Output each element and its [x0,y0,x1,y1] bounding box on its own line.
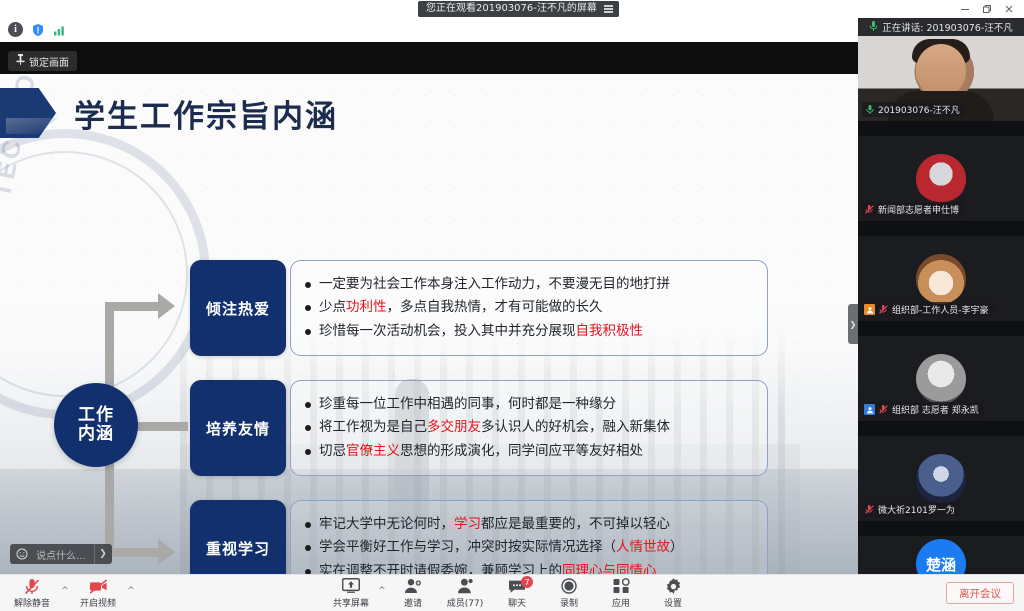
emoji-icon[interactable] [10,544,34,564]
mute-toggle-button[interactable]: 解除静音 [6,577,58,610]
bullet-text: 一定要为社会工作本身注入工作动力，不要漫无目的地打拼 [319,277,670,292]
highlighted-term: 多交朋友 [427,419,481,435]
bullet-dot-icon [305,522,311,528]
hub-line-2: 内涵 [78,425,114,444]
hub-circle: 工作 内涵 [54,383,138,467]
invite-label: 邀请 [404,596,422,609]
pin-icon [16,54,25,68]
bullet-line: 一定要为社会工作本身注入工作动力，不要漫无目的地打拼 [305,277,757,292]
meeting-window: 您正在观看201903076-汪不凡的屏幕 i [0,0,1024,611]
avatar [916,354,966,404]
chat-label: 聊天 [508,596,526,609]
mic-muted-icon [878,304,889,315]
bullet-dot-icon [305,449,311,455]
row-label-1: 倾注热爱 [190,260,286,356]
chat-button[interactable]: 7 聊天 [491,577,543,610]
connector-arm-1 [105,302,161,311]
bullet-run: 多认识人的好机会，融入新集体 [481,419,670,435]
apps-icon [613,577,630,595]
row-body-3: 牢记大学中无论何时，学习都应是最重要的，不可掉以轻心学会平衡好工作与学习，冲突时… [290,500,768,574]
bullet-text: 珍惜每一次活动机会，投入其中并充分展现自我积极性 [319,324,643,339]
status-icon-group: i [8,22,67,37]
bullet-line: 少点功利性，多点自我热情，才有可能做的长久 [305,300,757,315]
bullet-dot-icon [305,545,311,551]
highlighted-term: 学习 [454,516,481,532]
active-speaker-bar: 正在讲话: 201903076-汪不凡 [858,18,1024,36]
connector-arm-3 [105,548,161,557]
highlighted-term: 同理心与同情心 [562,563,657,574]
bullet-text: 学会平衡好工作与学习，冲突时按实际情况选择（人情世故） [319,540,684,555]
participant-panel: 正在讲话: 201903076-汪不凡 201903076-汪不凡 [858,18,1024,574]
record-label: 录制 [560,596,578,609]
window-controls [954,0,1020,18]
bullet-line: 切忌官僚主义思想的形成演化，同学间应平等友好相处 [305,444,757,459]
bullet-dot-icon [305,282,311,288]
bullet-line: 珍重每一位工作中相遇的同事，何时都是一种缘分 [305,397,757,412]
bullet-dot-icon [305,305,311,311]
minimize-icon[interactable] [954,0,976,18]
video-tile[interactable]: 201903076-汪不凡 [858,36,1024,121]
video-off-icon [89,577,108,595]
participant-name: 微大祈2101罗一为 [878,503,955,516]
bullet-text: 珍重每一位工作中相遇的同事，何时都是一种缘分 [319,397,616,412]
mic-muted-icon [24,577,40,595]
participant-name: 组织部 志愿者 郑永凯 [892,403,979,416]
bullet-run: 珍惜每一次活动机会，投入其中并充分展现 [319,323,576,339]
shared-slide: TECHNOLOGY 学生工作宗旨内涵 工作 内涵 倾注热爱 [0,74,858,574]
meeting-toolbar: 解除静音 ^ 开启视频 ^ [0,574,1024,611]
bullet-line: 珍惜每一次活动机会，投入其中并充分展现自我积极性 [305,324,757,339]
video-tile[interactable]: 组织部 志愿者 郑永凯 [858,336,1024,421]
participant-name: 201903076-汪不凡 [878,103,960,116]
row-body-2: 珍重每一位工作中相遇的同事，何时都是一种缘分将工作视为是自己多交朋友多认识人的好… [290,380,768,476]
bullet-run: 都应是最重要的，不可掉以轻心 [481,516,670,532]
participant-name-badge: 组织部-工作人员-李宇豪 [862,302,994,317]
watching-screen-label: 您正在观看201903076-汪不凡的屏幕 [426,1,597,17]
row-label-2: 培养友情 [190,380,286,476]
share-screen-icon [342,577,360,595]
bullet-run: ） [670,539,684,555]
avatar [916,454,966,504]
highlighted-term: 人情世故 [616,539,670,555]
bullet-run: 一定要为社会工作本身注入工作动力，不要漫无目的地打拼 [319,276,670,292]
avatar [916,254,966,304]
toolbar-left-group: 解除静音 ^ 开启视频 ^ [6,577,136,610]
settings-gear-icon [665,577,682,595]
restore-icon[interactable] [976,0,998,18]
mic-muted-icon [864,204,875,215]
mic-icon [869,21,878,34]
mic-muted-icon [864,504,875,515]
participants-label: 成员(77) [447,596,483,609]
share-screen-button[interactable]: 共享屏幕 [325,577,377,610]
shield-icon[interactable] [30,22,45,37]
connector-arrowhead-1 [158,293,175,319]
bullet-text: 少点功利性，多点自我热情，才有可能做的长久 [319,300,603,315]
participant-name: 新闻部志愿者申仕博 [878,203,959,216]
content-row-3: 重视学习 牢记大学中无论何时，学习都应是最重要的，不可掉以轻心学会平衡好工作与学… [190,500,768,574]
collapse-panel-handle[interactable]: ❯ [848,304,858,344]
slide-chat-placeholder: 说点什么... [34,544,94,564]
leave-meeting-button[interactable]: 离开会议 [946,582,1014,604]
send-icon[interactable]: ❯ [94,544,112,564]
apps-button[interactable]: 应用 [595,577,647,610]
share-options-caret[interactable]: ^ [377,586,387,596]
mic-options-caret[interactable]: ^ [60,586,70,596]
video-options-caret[interactable]: ^ [126,586,136,596]
participant-name-badge: 微大祈2101罗一为 [862,502,960,517]
person-blue-icon [864,404,875,415]
highlighted-term: 自我积极性 [576,323,644,339]
participant-name: 组织部-工作人员-李宇豪 [892,303,989,316]
watching-screen-pill[interactable]: 您正在观看201903076-汪不凡的屏幕 [418,1,619,17]
record-icon [561,577,577,595]
bullet-line: 牢记大学中无论何时，学习都应是最重要的，不可掉以轻心 [305,517,757,532]
invite-icon [404,577,422,595]
apps-label: 应用 [612,596,630,609]
content-row-2: 培养友情 珍重每一位工作中相遇的同事，何时都是一种缘分将工作视为是自己多交朋友多… [190,380,768,476]
network-signal-icon[interactable] [52,22,67,37]
video-toggle-button[interactable]: 开启视频 [72,577,124,610]
page-title: 学生工作宗旨内涵 [74,91,338,136]
toolbar-center-group: 共享屏幕 ^ 邀请 [325,577,699,610]
avatar-initials: 楚涵 [926,554,956,575]
close-icon[interactable] [998,0,1020,18]
participant-name-badge: 201903076-汪不凡 [862,102,965,117]
highlighted-term: 功利性 [346,299,387,315]
video-tile[interactable]: 组织部-工作人员-李宇豪 [858,236,1024,321]
bullet-text: 实在调整不开时请假委婉，兼顾学习上的同理心与同情心 [319,564,657,574]
bullet-run: 牢记大学中无论何时， [319,516,454,532]
connector-arrowhead-3 [158,539,175,565]
bullet-line: 学会平衡好工作与学习，冲突时按实际情况选择（人情世故） [305,540,757,555]
mute-toggle-label: 解除静音 [14,596,50,609]
mic-muted-icon [878,404,889,415]
lock-screen-label: 锁定画面 [29,54,69,69]
info-icon[interactable]: i [8,22,23,37]
slide-chat-input[interactable]: 说点什么... ❯ [10,544,112,564]
leave-meeting-label: 离开会议 [959,586,1001,601]
participant-name-badge: 组织部 志愿者 郑永凯 [862,402,984,417]
bullet-text: 牢记大学中无论何时，学习都应是最重要的，不可掉以轻心 [319,517,670,532]
bullet-run: 实在调整不开时请假委婉，兼顾学习上的 [319,563,562,574]
bullet-run: 切忌 [319,443,346,459]
mic-active-icon [864,104,875,115]
bullet-line: 将工作视为是自己多交朋友多认识人的好机会，融入新集体 [305,420,757,435]
bullet-run: 学会平衡好工作与学习，冲突时按实际情况选择（ [319,539,616,555]
chat-unread-badge: 7 [521,576,533,588]
bullet-run: 思想的形成演化，同学间应平等友好相处 [400,443,643,459]
bullet-dot-icon [305,329,311,335]
video-toggle-label: 开启视频 [80,596,116,609]
bullet-line: 实在调整不开时请假委婉，兼顾学习上的同理心与同情心 [305,564,757,574]
record-button[interactable]: 录制 [543,577,595,610]
person-orange-icon [864,304,875,315]
bullet-run: 将工作视为是自己 [319,419,427,435]
participant-name-badge: 新闻部志愿者申仕博 [862,202,964,217]
bullet-run: 少点 [319,299,346,315]
row-body-1: 一定要为社会工作本身注入工作动力，不要漫无目的地打拼少点功利性，多点自我热情，才… [290,260,768,356]
settings-label: 设置 [664,596,682,609]
video-tile[interactable]: 新闻部志愿者申仕博 [858,136,1024,221]
hamburger-icon[interactable] [604,5,613,13]
title-bar: 您正在观看201903076-汪不凡的屏幕 [0,0,1024,18]
hub-line-1: 工作 [78,406,114,425]
bullet-dot-icon [305,425,311,431]
invite-button[interactable]: 邀请 [387,577,439,610]
row-label-3: 重视学习 [190,500,286,574]
bullet-run: 珍重每一位工作中相遇的同事，何时都是一种缘分 [319,396,616,412]
slide-title-block: 学生工作宗旨内涵 [0,84,338,142]
video-face [916,44,966,96]
avatar [916,154,966,204]
participants-icon [456,577,474,595]
bullet-text: 切忌官僚主义思想的形成演化，同学间应平等友好相处 [319,444,643,459]
video-tile[interactable]: 微大祈2101罗一为 [858,436,1024,521]
settings-button[interactable]: 设置 [647,577,699,610]
bullet-run: ，多点自我热情，才有可能做的长久 [387,299,603,315]
content-row-1: 倾注热爱 一定要为社会工作本身注入工作动力，不要漫无目的地打拼少点功利性，多点自… [190,260,768,356]
participants-button[interactable]: 成员(77) [439,577,491,610]
shared-screen-area: 锁定画面 TECHNOLOGY 学生工作宗旨内涵 [0,42,858,574]
lock-screen-button[interactable]: 锁定画面 [8,51,77,71]
bullet-dot-icon [305,402,311,408]
bullet-text: 将工作视为是自己多交朋友多认识人的好机会，融入新集体 [319,420,670,435]
share-screen-label: 共享屏幕 [333,596,369,609]
active-speaker-label: 正在讲话: 201903076-汪不凡 [882,20,1013,34]
highlighted-term: 官僚主义 [346,443,400,459]
